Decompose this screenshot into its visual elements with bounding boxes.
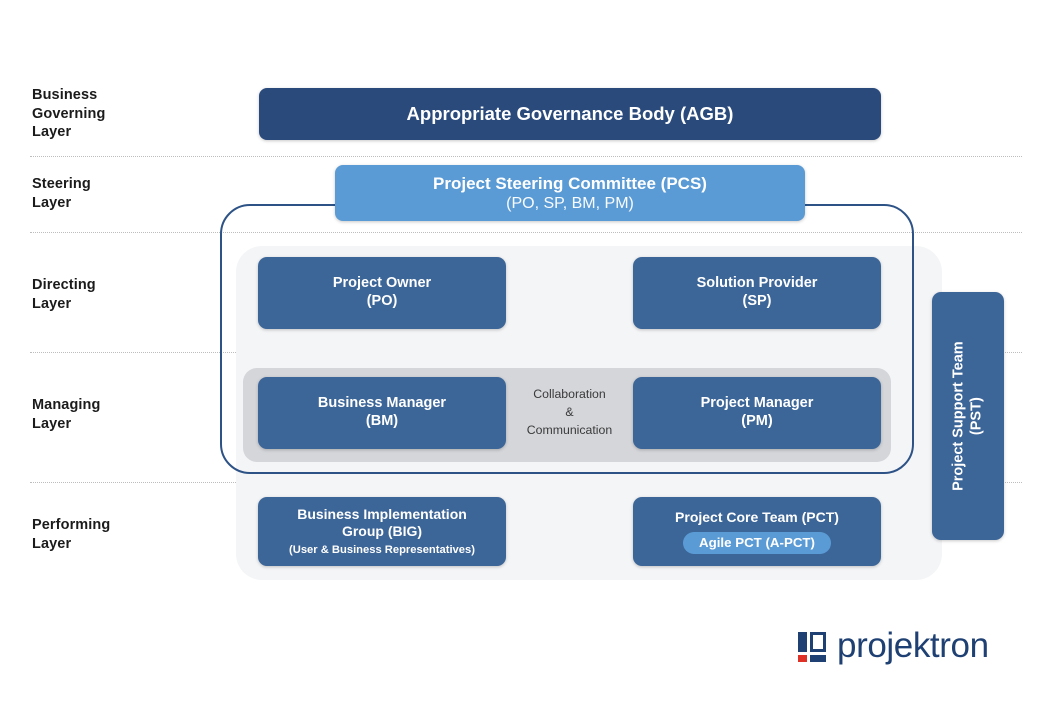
collaboration-line: & — [512, 404, 627, 422]
collaboration-line: Collaboration — [512, 386, 627, 404]
box-subtitle: (BM) — [366, 413, 398, 431]
box-subtitle: (PO, SP, BM, PM) — [506, 194, 634, 214]
box-rotated-label: Project Support Team (PST) — [950, 341, 986, 491]
box-title: Project Steering Committee (PCS) — [433, 173, 707, 194]
layer-label-line: Steering — [32, 175, 232, 194]
layer-label-line: Layer — [32, 415, 232, 434]
logo-red-square — [798, 655, 807, 662]
layer-label-managing: Managing Layer — [32, 396, 232, 433]
box-subtitle: (SP) — [743, 293, 772, 311]
projektron-logo-mark-icon — [798, 632, 826, 660]
box-project-support-team[interactable]: Project Support Team (PST) — [932, 292, 1004, 540]
box-title: Project Support Team — [950, 341, 968, 491]
box-subtitle: (PM) — [741, 413, 772, 431]
layer-label-line: Managing — [32, 396, 232, 415]
collaboration-communication-label: Collaboration & Communication — [512, 386, 627, 439]
box-title: Project Core Team (PCT) — [675, 509, 839, 526]
layer-label-line: Business — [32, 86, 232, 105]
box-business-manager[interactable]: Business Manager (BM) — [258, 377, 506, 449]
box-title: Project Manager — [701, 395, 814, 413]
box-title: Business Manager — [318, 395, 446, 413]
layer-label-performing: Performing Layer — [32, 516, 232, 553]
box-appropriate-governance-body[interactable]: Appropriate Governance Body (AGB) — [259, 88, 881, 140]
layer-label-line: Governing — [32, 105, 232, 124]
layer-label-line: Directing — [32, 276, 232, 295]
layer-label-line: Layer — [32, 295, 232, 314]
box-subtitle: (PST) — [968, 341, 986, 491]
projektron-wordmark: projektron — [837, 628, 989, 663]
badge-agile-pct[interactable]: Agile PCT (A-PCT) — [683, 532, 831, 554]
layer-label-line: Layer — [32, 194, 232, 213]
box-project-steering-committee[interactable]: Project Steering Committee (PCS) (PO, SP… — [335, 165, 805, 221]
projektron-logo: projektron — [798, 628, 989, 663]
layer-label-steering: Steering Layer — [32, 175, 232, 212]
box-subtitle: (User & Business Representatives) — [289, 543, 475, 558]
box-title: Solution Provider — [697, 275, 818, 293]
layer-label-line: Layer — [32, 123, 232, 142]
box-title: Business Implementation — [297, 506, 467, 523]
box-project-owner[interactable]: Project Owner (PO) — [258, 257, 506, 329]
layer-divider-1 — [30, 156, 1022, 157]
collaboration-line: Communication — [512, 422, 627, 440]
diagram-canvas: Business Governing Layer Steering Layer … — [0, 0, 1050, 706]
box-title: Project Owner — [333, 275, 431, 293]
box-project-core-team[interactable]: Project Core Team (PCT) Agile PCT (A-PCT… — [633, 497, 881, 566]
box-title: Appropriate Governance Body (AGB) — [407, 103, 734, 126]
layer-label-directing: Directing Layer — [32, 276, 232, 313]
box-title-line2: Group (BIG) — [342, 523, 422, 540]
logo-bar-left — [798, 632, 807, 652]
logo-square-outline — [810, 632, 826, 652]
layer-label-line: Layer — [32, 535, 232, 554]
box-business-implementation-group[interactable]: Business Implementation Group (BIG) (Use… — [258, 497, 506, 566]
box-solution-provider[interactable]: Solution Provider (SP) — [633, 257, 881, 329]
box-subtitle: (PO) — [367, 293, 398, 311]
layer-label-line: Performing — [32, 516, 232, 535]
logo-bar-bottom — [810, 655, 826, 662]
layer-label-business-governing: Business Governing Layer — [32, 86, 232, 142]
box-project-manager[interactable]: Project Manager (PM) — [633, 377, 881, 449]
